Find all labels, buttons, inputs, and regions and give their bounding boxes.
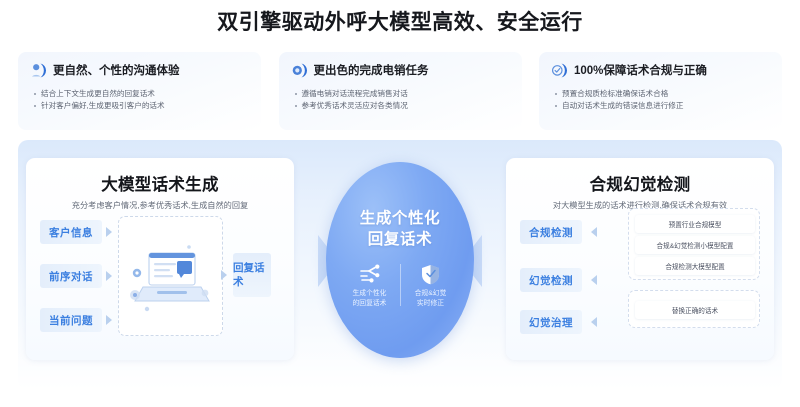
- stage-chip-hallucination-check[interactable]: 幻觉检测: [520, 268, 582, 292]
- left-panel-generation: 大模型话术生成 充分考虑客户情况,参考优秀话术,生成自然的回复 客户信息 前序对…: [26, 158, 294, 360]
- detection-config-item[interactable]: 预置行业合规模型: [635, 215, 755, 233]
- feature-card-compliance: 100%保障话术合规与正确 预置合规质检标准确保话术合格 自动对话术生成的错误信…: [539, 52, 782, 130]
- card-bullet: 预置合规质检标准确保话术合格: [553, 88, 770, 100]
- center-item-compliance: 合规&幻觉 实时修正: [401, 263, 461, 308]
- card-bullet: 结合上下文生成更自然的回复话术: [32, 88, 249, 100]
- center-title-line1: 生成个性化: [360, 208, 441, 229]
- target-gear-icon: [291, 62, 308, 79]
- chevron-right-icon: [220, 269, 229, 281]
- shield-icon: [421, 263, 440, 285]
- chevron-right-icon: [105, 270, 114, 282]
- chevron-right-icon: [105, 314, 114, 326]
- center-item-label-line1: 生成个性化: [353, 290, 387, 297]
- input-chip-current-question[interactable]: 当前问题: [40, 308, 102, 332]
- center-item-label: 生成个性化 的回复话术: [353, 289, 387, 308]
- remediation-group: 替换正确的话术: [628, 290, 760, 328]
- center-items: 生成个性化 的回复话术 合规&幻觉 实时修正: [340, 263, 461, 308]
- left-panel-subtitle: 充分考虑客户情况,参考优秀话术,生成自然的回复: [26, 199, 294, 211]
- left-panel-title: 大模型话术生成: [26, 171, 294, 195]
- detection-config-item[interactable]: 合规&幻觉检测小模型配置: [635, 236, 755, 254]
- center-item-label-line2: 实时修正: [417, 300, 444, 307]
- laptop-chat-illustration: [118, 216, 223, 336]
- center-item-label-line1: 合规&幻觉: [415, 290, 447, 297]
- check-badge-icon: [551, 62, 568, 79]
- chevron-right-icon: [105, 226, 114, 238]
- center-ellipse: 生成个性化 回复话术: [326, 162, 474, 358]
- card-bullet: 遵循电销对话流程完成销售对话: [293, 88, 510, 100]
- feature-card-communication: 更自然、个性的沟通体验 结合上下文生成更自然的回复话术 针对客户偏好,生成更吸引…: [18, 52, 261, 130]
- card-header: 更出色的完成电销任务: [291, 61, 510, 79]
- detection-config-item[interactable]: 合规检测大模型配置: [635, 257, 755, 275]
- card-title: 100%保障话术合规与正确: [574, 62, 707, 78]
- output-chip-reply-script[interactable]: 回复话术: [233, 253, 271, 297]
- chevron-left-icon: [589, 316, 598, 328]
- card-title: 更自然、个性的沟通体验: [53, 62, 180, 78]
- center-item-personalize: 生成个性化 的回复话术: [340, 263, 400, 308]
- output-chip-line1: 回复话术: [233, 261, 271, 289]
- card-bullet-list: 结合上下文生成更自然的回复话术 针对客户偏好,生成更吸引客户的话术: [30, 88, 249, 111]
- card-bullet: 自动对话术生成的错误信息进行修正: [553, 100, 770, 112]
- card-bullet: 参考优秀话术灵活应对各类情况: [293, 100, 510, 112]
- feature-cards-row: 更自然、个性的沟通体验 结合上下文生成更自然的回复话术 针对客户偏好,生成更吸引…: [18, 52, 782, 130]
- stage-chip-hallucination-fix[interactable]: 幻觉治理: [520, 310, 582, 334]
- chevron-left-icon: [589, 274, 598, 286]
- feature-card-task: 更出色的完成电销任务 遵循电销对话流程完成销售对话 参考优秀话术灵活应对各类情况: [279, 52, 522, 130]
- card-bullet: 针对客户偏好,生成更吸引客户的话术: [32, 100, 249, 112]
- infographic-page: 双引擎驱动外呼大模型高效、安全运行 更自然、个性的沟通体验 结合上下文生成更自然…: [0, 0, 800, 407]
- page-title: 双引擎驱动外呼大模型高效、安全运行: [0, 6, 800, 36]
- card-title: 更出色的完成电销任务: [314, 62, 429, 78]
- card-header: 100%保障话术合规与正确: [551, 61, 770, 79]
- right-panel-detection: 合规幻觉检测 对大模型生成的话术进行检测,确保话术合规有效 合规检测 幻觉检测 …: [506, 158, 774, 360]
- center-item-label-line2: 的回复话术: [353, 300, 387, 307]
- right-panel-title: 合规幻觉检测: [506, 171, 774, 195]
- card-bullet-list: 预置合规质检标准确保话术合格 自动对话术生成的错误信息进行修正: [551, 88, 770, 111]
- main-diagram: 大模型话术生成 充分考虑客户情况,参考优秀话术,生成自然的回复 客户信息 前序对…: [18, 140, 782, 390]
- chevron-left-icon: [589, 226, 598, 238]
- input-chip-customer-info[interactable]: 客户信息: [40, 220, 102, 244]
- input-chip-prior-dialogue[interactable]: 前序对话: [40, 264, 102, 288]
- card-bullet-list: 遵循电销对话流程完成销售对话 参考优秀话术灵活应对各类情况: [291, 88, 510, 111]
- personalize-node-icon: [359, 263, 381, 285]
- card-header: 更自然、个性的沟通体验: [30, 61, 249, 79]
- detection-config-group: 预置行业合规模型 合规&幻觉检测小模型配置 合规检测大模型配置: [628, 208, 760, 280]
- person-speech-icon: [30, 62, 47, 79]
- center-title-line2: 回复话术: [360, 229, 441, 250]
- stage-chip-compliance-check[interactable]: 合规检测: [520, 220, 582, 244]
- remediation-item[interactable]: 替换正确的话术: [635, 301, 755, 319]
- center-title: 生成个性化 回复话术: [360, 208, 441, 250]
- center-item-label: 合规&幻觉 实时修正: [415, 289, 447, 308]
